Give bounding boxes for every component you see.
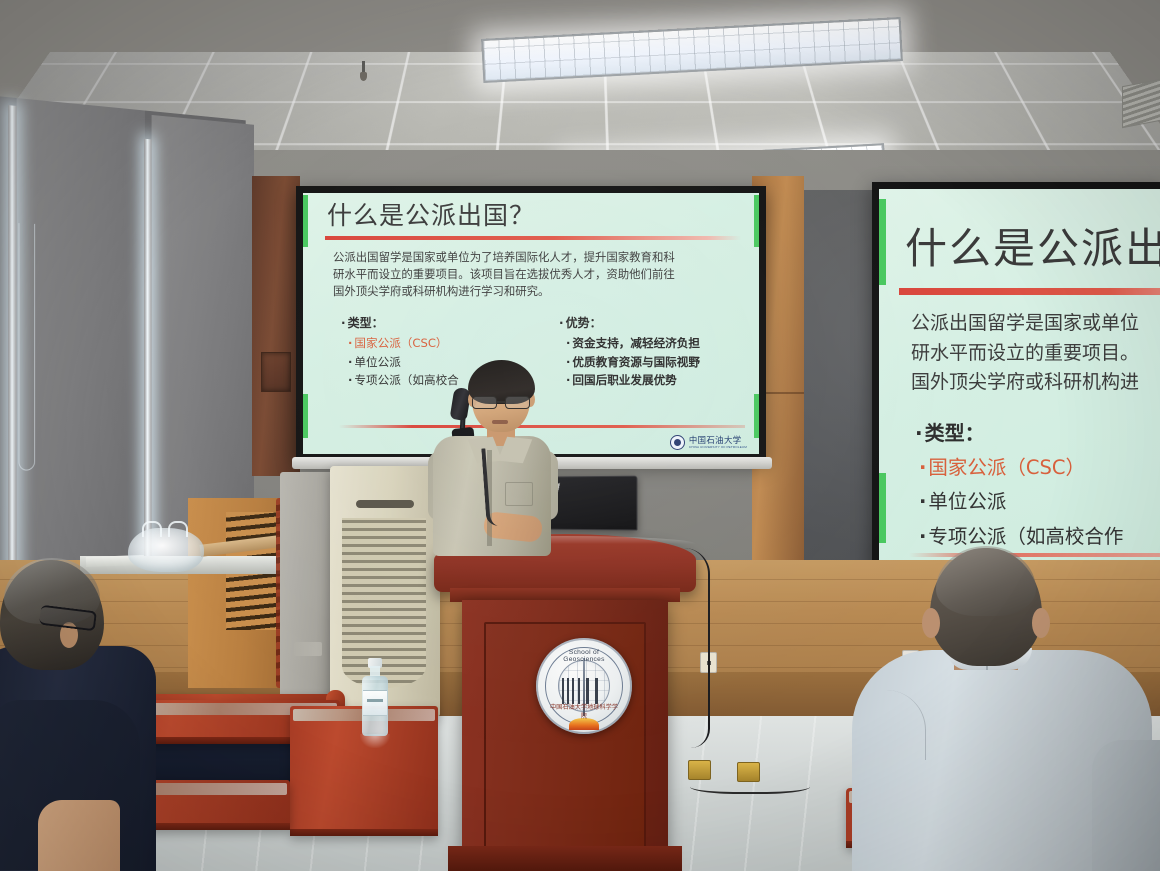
slide-bottom-rule xyxy=(339,425,745,428)
slide-green-edge-icon xyxy=(754,394,759,438)
window-light-gap xyxy=(144,139,152,582)
slide-paragraph-line: 国外顶尖学府或科研机构进 xyxy=(911,368,1160,398)
presentation-slide: 什么是公派出国？ 公派出国留学是国家或单位为了培养国际化人才，提升国家教育和科 … xyxy=(303,193,759,454)
advantages-heading: 优势： xyxy=(559,314,749,333)
types-heading-secondary: 类型： xyxy=(915,416,1160,451)
plastic-bag xyxy=(128,528,204,572)
slide-column-advantages: 优势： 资金支持，减轻经济负担 优质教育资源与国际视野 回国后职业发展优势 xyxy=(545,314,749,390)
window-light-gap xyxy=(8,105,16,597)
sprinkler-head-icon xyxy=(360,61,367,83)
projection-screen-secondary: 什么是公派出国 公派出国留学是国家或单位 研水平而设立的重要项目。 国外顶尖学府… xyxy=(872,182,1160,578)
emblem-top-text: School of Geosciences xyxy=(550,649,618,683)
roller-blind-left[interactable] xyxy=(17,98,145,594)
university-name-en: CHINA UNIVERSITY OF PETROLEUM xyxy=(689,446,747,449)
slide-green-edge-icon xyxy=(754,195,759,247)
eyeglasses-icon xyxy=(470,396,532,409)
podium-body xyxy=(462,600,668,862)
types-item-secondary-2: 专项公派（如高校合作 xyxy=(919,520,1160,554)
wood-wall-pilaster xyxy=(252,176,300,476)
university-seal-icon xyxy=(670,435,685,450)
advantages-item-1: 优质教育资源与国际视野 xyxy=(559,353,749,372)
floor-cable xyxy=(690,776,810,794)
advantages-item-0: 资金支持，减轻经济负担 xyxy=(559,334,749,353)
audience-right-arm xyxy=(1092,740,1160,871)
bottle-label xyxy=(363,690,387,716)
slide-top-rule-secondary xyxy=(899,288,1160,295)
projection-screen-main: 什么是公派出国？ 公派出国留学是国家或单位为了培养国际化人才，提升国家教育和科 … xyxy=(296,186,766,461)
types-item-secondary-0: 国家公派（CSC） xyxy=(919,451,1160,485)
ac-top-vent-icon xyxy=(356,500,414,508)
audience-right-ear-right xyxy=(1032,608,1050,638)
water-bottle[interactable] xyxy=(362,658,388,736)
blind-pull-cord[interactable] xyxy=(18,223,35,471)
laptop-screen[interactable] xyxy=(546,476,638,531)
lecture-room-photo: 什么是公派出国？ 公派出国留学是国家或单位为了培养国际化人才，提升国家教育和科 … xyxy=(0,0,1160,871)
slide-paragraph-line: 公派出国留学是国家或单位为了培养国际化人才，提升国家教育和科 xyxy=(333,249,739,266)
podium-cable xyxy=(684,548,710,748)
slide-title: 什么是公派出国？ xyxy=(327,202,749,230)
presentation-slide-secondary: 什么是公派出国 公派出国留学是国家或单位 研水平而设立的重要项目。 国外顶尖学府… xyxy=(879,189,1160,571)
school-emblem-icon: School of Geosciences 中国石油大学地球科学学院 xyxy=(536,638,632,734)
emblem-bottom-text: 中国石油大学地球科学学院 xyxy=(548,702,620,720)
university-logo: 中国石油大学 CHINA UNIVERSITY OF PETROLEUM xyxy=(670,435,747,450)
types-heading: 类型： xyxy=(341,314,545,333)
university-name-cn: 中国石油大学 xyxy=(689,436,747,444)
ceiling-vent-icon xyxy=(1122,78,1160,129)
podium-base xyxy=(448,846,682,871)
audience-right-ear-left xyxy=(922,608,940,638)
slide-top-rule xyxy=(325,236,741,240)
slide-paragraph-line: 研水平而设立的重要项目。 xyxy=(911,339,1160,369)
slide-paragraph-line: 研水平而设立的重要项目。该项目旨在选拔优秀人才，资助他们前往 xyxy=(333,266,739,283)
types-item-0: 国家公派（CSC） xyxy=(341,334,545,353)
recessed-frame xyxy=(261,352,291,392)
slide-paragraph-line: 国外顶尖学府或科研机构进行学习和研究。 xyxy=(333,283,739,300)
presenter-shirt-pocket xyxy=(505,482,533,506)
slide-bottom-rule-secondary xyxy=(909,553,1160,557)
desk-edge xyxy=(290,829,438,836)
bottle-reflection xyxy=(360,734,390,748)
slide-paragraph-line: 公派出国留学是国家或单位 xyxy=(911,309,1160,339)
audience-left-arm xyxy=(38,800,120,871)
presenter-mouth xyxy=(492,420,508,424)
types-item-secondary-1: 单位公派 xyxy=(919,485,1160,519)
advantages-item-2: 回国后职业发展优势 xyxy=(559,371,749,390)
slide-paragraph-secondary: 公派出国留学是国家或单位 研水平而设立的重要项目。 国外顶尖学府或科研机构进 xyxy=(911,309,1160,398)
slide-paragraph: 公派出国留学是国家或单位为了培养国际化人才，提升国家教育和科 研水平而设立的重要… xyxy=(333,249,739,301)
slide-title-secondary: 什么是公派出国 xyxy=(905,215,1160,276)
